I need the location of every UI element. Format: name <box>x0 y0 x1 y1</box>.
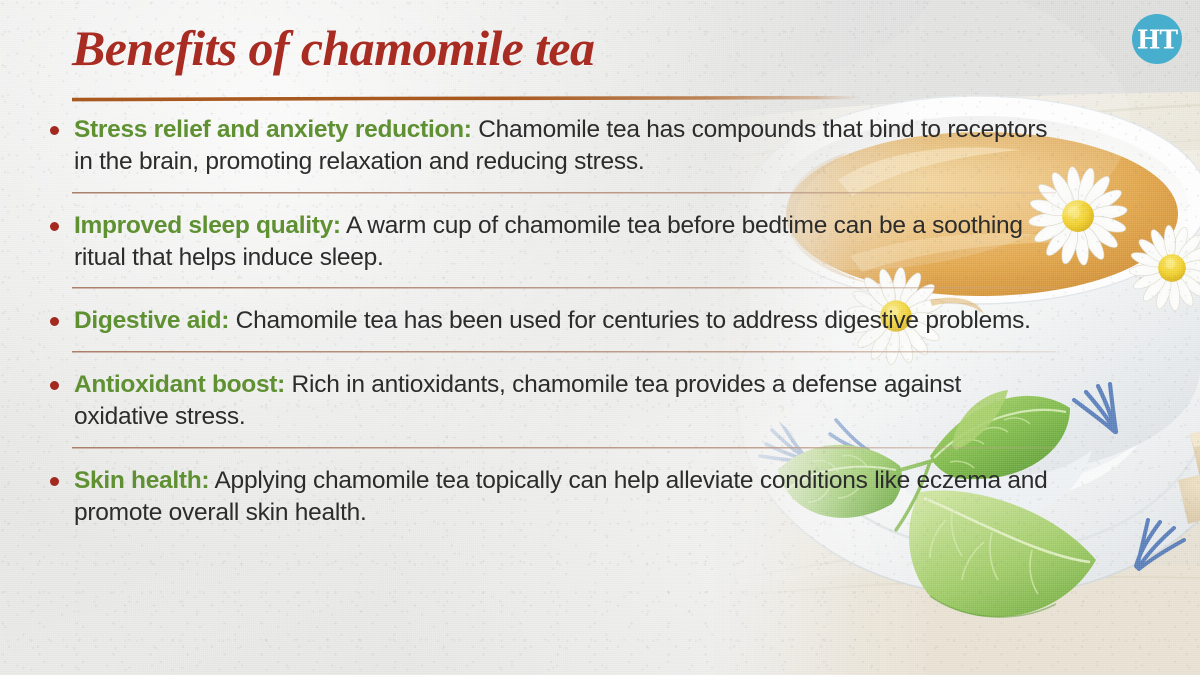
benefit-body: Chamomile tea has been used for centurie… <box>229 307 1031 334</box>
benefit-text: Digestive aid: Chamomile tea has been us… <box>74 305 1056 337</box>
page-title-wrap: Benefits of chamomile tea <box>72 22 872 75</box>
divider <box>72 287 1056 289</box>
benefit-text: Stress relief and anxiety reduction: Cha… <box>74 114 1056 178</box>
bullet-dot-icon <box>50 317 59 326</box>
infographic-canvas: Cup of chamomile tea with floating daisy… <box>0 0 1200 675</box>
bullet-dot-icon <box>50 477 59 486</box>
divider <box>72 192 1056 194</box>
benefit-heading: Stress relief and anxiety reduction: <box>74 116 472 143</box>
divider <box>72 351 1056 353</box>
benefit-text: Improved sleep quality: A warm cup of ch… <box>74 210 1056 274</box>
list-item: Antioxidant boost: Rich in antioxidants,… <box>46 369 1056 433</box>
benefit-heading: Improved sleep quality: <box>74 212 341 239</box>
title-underline <box>72 96 862 102</box>
benefit-heading: Antioxidant boost: <box>74 371 285 398</box>
benefit-heading: Skin health: <box>74 467 209 494</box>
bullet-dot-icon <box>50 126 59 135</box>
divider <box>72 447 1056 449</box>
list-item: Improved sleep quality: A warm cup of ch… <box>46 210 1056 274</box>
hindustan-times-logo[interactable]: HT <box>1132 14 1182 64</box>
bullet-dot-icon <box>50 381 59 390</box>
list-item: Skin health: Applying chamomile tea topi… <box>46 465 1056 529</box>
benefit-heading: Digestive aid: <box>74 307 229 334</box>
benefit-text: Skin health: Applying chamomile tea topi… <box>74 465 1056 529</box>
logo-text: HT <box>1137 26 1177 52</box>
page-title: Benefits of chamomile tea <box>72 22 872 75</box>
benefit-text: Antioxidant boost: Rich in antioxidants,… <box>74 369 1056 433</box>
benefits-list: Stress relief and anxiety reduction: Cha… <box>46 114 1056 529</box>
bullet-dot-icon <box>50 222 59 231</box>
benefit-body: Applying chamomile tea topically can hel… <box>74 467 1048 526</box>
list-item: Digestive aid: Chamomile tea has been us… <box>46 305 1056 337</box>
list-item: Stress relief and anxiety reduction: Cha… <box>46 114 1056 178</box>
